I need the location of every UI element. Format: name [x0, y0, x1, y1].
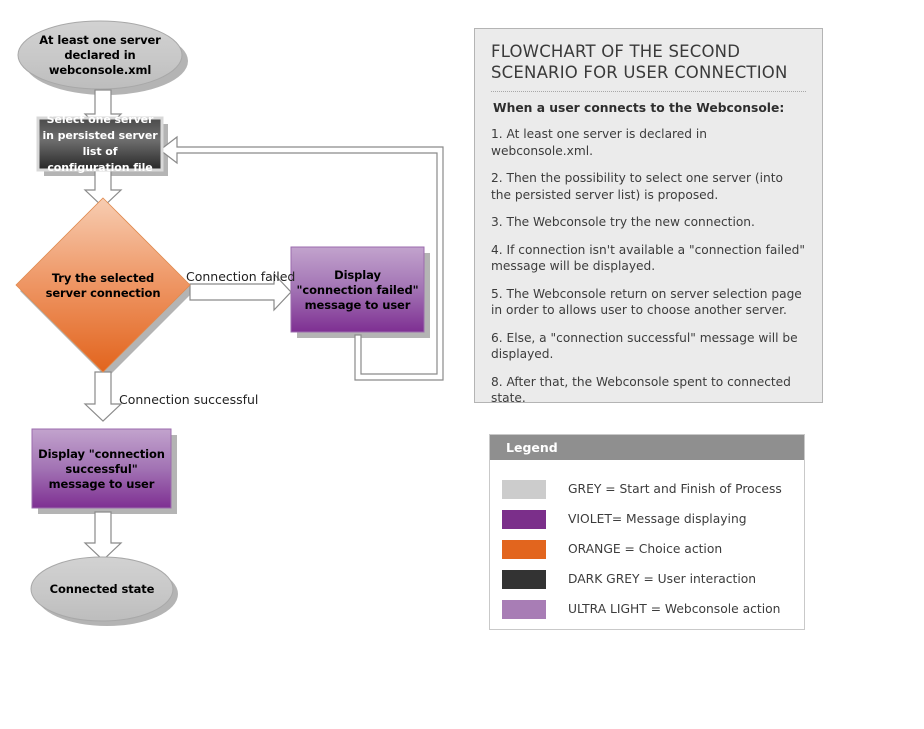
legend-swatch-dark-grey	[502, 570, 546, 589]
description-panel-lead: When a user connects to the Webconsole:	[493, 101, 806, 115]
description-step: 6. Else, a "connection successful" messa…	[491, 330, 806, 363]
end-node[interactable]	[31, 557, 173, 621]
display-failed-node[interactable]	[291, 247, 424, 332]
legend-items: GREY = Start and Finish of Process VIOLE…	[490, 460, 804, 624]
connector-try-to-success	[85, 372, 121, 421]
legend-item: ULTRA LIGHT = Webconsole action	[490, 594, 804, 624]
legend-item: VIOLET= Message displaying	[490, 504, 804, 534]
legend-panel: Legend GREY = Start and Finish of Proces…	[489, 434, 805, 630]
legend-title: Legend	[490, 435, 804, 460]
description-step: 3. The Webconsole try the new connection…	[491, 214, 806, 231]
display-success-node[interactable]	[32, 429, 171, 508]
legend-item: DARK GREY = User interaction	[490, 564, 804, 594]
legend-item-label: ULTRA LIGHT = Webconsole action	[568, 602, 780, 616]
start-node[interactable]	[18, 21, 182, 89]
description-step: 4. If connection isn't available a "conn…	[491, 242, 806, 275]
legend-item-label: ORANGE = Choice action	[568, 542, 722, 556]
legend-swatch-grey	[502, 480, 546, 499]
description-step: 1. At least one server is declared in we…	[491, 126, 806, 159]
edge-label-connection-successful: Connection successful	[119, 392, 258, 407]
legend-swatch-orange	[502, 540, 546, 559]
description-step: 2. Then the possibility to select one se…	[491, 170, 806, 203]
edge-label-connection-failed: Connection failed	[186, 269, 295, 284]
description-panel-title: FLOWCHART OF THE SECOND SCENARIO FOR USE…	[491, 41, 806, 83]
legend-item: ORANGE = Choice action	[490, 534, 804, 564]
legend-swatch-ultra-light	[502, 600, 546, 619]
legend-item-label: VIOLET= Message displaying	[568, 512, 747, 526]
legend-swatch-violet	[502, 510, 546, 529]
legend-item: GREY = Start and Finish of Process	[490, 474, 804, 504]
description-panel: FLOWCHART OF THE SECOND SCENARIO FOR USE…	[474, 28, 823, 403]
try-connection-node[interactable]	[16, 198, 190, 372]
description-step: 5. The Webconsole return on server selec…	[491, 286, 806, 319]
select-server-node[interactable]	[38, 118, 162, 170]
description-panel-divider	[491, 90, 806, 92]
connector-success-to-end	[85, 512, 121, 560]
legend-item-label: DARK GREY = User interaction	[568, 572, 756, 586]
description-step: 8. After that, the Webconsole spent to c…	[491, 374, 806, 407]
legend-item-label: GREY = Start and Finish of Process	[568, 482, 782, 496]
